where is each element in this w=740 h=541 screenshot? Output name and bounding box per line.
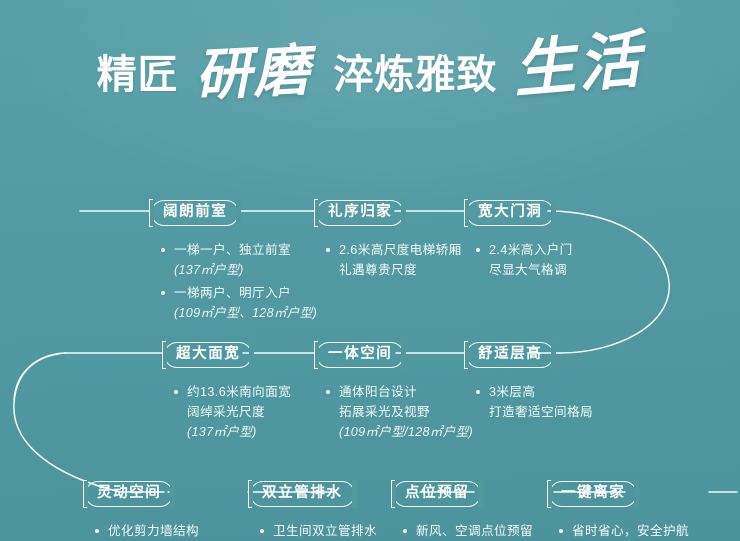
node-bullet-list: 通体阳台设计 拓展采光及视野 (109㎡户型/128㎡户型) [326, 382, 473, 442]
node-row2-2[interactable]: 舒适层高 3米层高 打造奢适空间格局 [466, 342, 593, 438]
list-item: 一梯两户、明厅入户 (109㎡户型、128㎡户型) [161, 283, 317, 323]
list-item: 新风、空调点位预留 便于后期装修 [403, 521, 533, 541]
node-bullet-list: 3米层高 打造奢适空间格局 [476, 382, 593, 422]
title-part-2: 研磨 [193, 42, 312, 104]
title-part-3: 淬炼雅致 [333, 55, 497, 95]
bullet-subtext: 阔绰采光尺度 [187, 402, 291, 422]
node-bullet-list: 一梯一户、独立前室 (137㎡户型) 一梯两户、明厅入户 (109㎡户型、128… [161, 240, 317, 323]
bracket-left-icon [391, 480, 395, 508]
node-bullet-list: 2.4米高入户门 尽显大气格调 [476, 240, 573, 280]
bracket-right-icon [402, 199, 406, 227]
node-bullet-list: 卫生间双立管排水 有效防止异味 [260, 521, 377, 541]
bracket-right-icon [552, 341, 556, 369]
list-item: 约13.6米南向面宽 阔绰采光尺度 (137㎡户型) [174, 382, 291, 442]
list-item: 2.6米高尺度电梯轿厢 礼遇尊贵尺度 [326, 240, 462, 280]
list-item: 2.4米高入户门 尽显大气格调 [476, 240, 573, 280]
bullet-subtext: 礼遇尊贵尺度 [339, 260, 462, 280]
node-label-box[interactable]: 一体空间 [316, 342, 404, 368]
node-label: 一体空间 [328, 346, 392, 362]
node-label-box[interactable]: 超大面宽 [164, 342, 252, 368]
node-label-box[interactable]: 宽大门洞 [466, 200, 554, 226]
bracket-right-icon [479, 480, 483, 508]
node-row3-1[interactable]: 双立管排水 卫生间双立管排水 有效防止异味 [250, 481, 377, 541]
node-bullet-list: 约13.6米南向面宽 阔绰采光尺度 (137㎡户型) [174, 382, 291, 442]
bullet-dot-icon [326, 248, 330, 252]
list-item: 优化剪力墙结构 实现空间多变 [95, 521, 199, 541]
bracket-left-icon [162, 341, 166, 369]
list-item: 卫生间双立管排水 有效防止异味 [260, 521, 377, 541]
bullet-text: 2.6米高尺度电梯轿厢 [339, 243, 462, 257]
node-label-box[interactable]: 阔朗前室 [151, 200, 239, 226]
node-label: 阔朗前室 [163, 204, 227, 220]
bullet-subtext: 打造奢适空间格局 [489, 402, 593, 422]
node-label-box[interactable]: 礼序归家 [316, 200, 404, 226]
node-label: 双立管排水 [262, 485, 343, 501]
bullet-dot-icon [326, 390, 330, 394]
bracket-left-icon [464, 199, 468, 227]
bracket-left-icon [149, 199, 153, 227]
bracket-left-icon [464, 341, 468, 369]
bracket-left-icon [547, 480, 551, 508]
node-row3-0[interactable]: 灵动空间 优化剪力墙结构 实现空间多变 [85, 481, 199, 541]
node-label: 灵动空间 [97, 485, 161, 501]
node-label: 点位预留 [405, 485, 469, 501]
bullet-text: 一梯两户、明厅入户 [174, 286, 291, 300]
bracket-right-icon [171, 480, 175, 508]
node-bullet-list: 优化剪力墙结构 实现空间多变 [95, 521, 199, 541]
bullet-text: 省时省心，安全护航 [572, 524, 689, 538]
bracket-right-icon [250, 341, 254, 369]
bullet-text: 优化剪力墙结构 [108, 524, 199, 538]
bracket-left-icon [314, 199, 318, 227]
node-row1-0[interactable]: 阔朗前室 一梯一户、独立前室 (137㎡户型) 一梯两户、明厅入户 (109㎡户… [151, 200, 317, 339]
bullet-text: 约13.6米南向面宽 [187, 385, 291, 399]
node-label: 一键离家 [561, 485, 625, 501]
bullet-dot-icon [476, 248, 480, 252]
bullet-dot-icon [174, 390, 178, 394]
bullet-dot-icon [260, 529, 264, 533]
bullet-dot-icon [95, 529, 99, 533]
bracket-left-icon [248, 480, 252, 508]
connector-r2-left-entry [14, 353, 164, 400]
poster-canvas: 精匠 研磨 淬炼雅致 生活 [0, 0, 740, 541]
node-label-box[interactable]: 一键离家 [549, 481, 637, 507]
node-bullet-list: 省时省心，安全护航 [559, 521, 689, 541]
bracket-right-icon [552, 199, 556, 227]
bullet-dot-icon [559, 529, 563, 533]
bullet-text: 新风、空调点位预留 [416, 524, 533, 538]
node-row2-1[interactable]: 一体空间 通体阳台设计 拓展采光及视野 (109㎡户型/128㎡户型) [316, 342, 473, 458]
bullet-text: 卫生间双立管排水 [273, 524, 377, 538]
bracket-left-icon [314, 341, 318, 369]
node-label: 超大面宽 [176, 346, 240, 362]
bullet-subtext-2: (109㎡户型/128㎡户型) [339, 422, 473, 442]
node-label-box[interactable]: 舒适层高 [466, 342, 554, 368]
node-label-box[interactable]: 点位预留 [393, 481, 481, 507]
bracket-right-icon [402, 341, 406, 369]
node-row3-3[interactable]: 一键离家 省时省心，安全护航 [549, 481, 689, 541]
node-label-box[interactable]: 双立管排水 [250, 481, 355, 507]
node-row3-2[interactable]: 点位预留 新风、空调点位预留 便于后期装修 [393, 481, 533, 541]
bullet-dot-icon [161, 291, 165, 295]
node-bullet-list: 新风、空调点位预留 便于后期装修 [403, 521, 533, 541]
bullet-subtext: (109㎡户型、128㎡户型) [174, 303, 317, 323]
bullet-text: 一梯一户、独立前室 [174, 243, 291, 257]
bracket-right-icon [635, 480, 639, 508]
node-label: 宽大门洞 [478, 204, 542, 220]
title-part-1: 精匠 [97, 55, 179, 95]
node-row1-2[interactable]: 宽大门洞 2.4米高入户门 尽显大气格调 [466, 200, 573, 296]
list-item: 通体阳台设计 拓展采光及视野 (109㎡户型/128㎡户型) [326, 382, 473, 442]
list-item: 3米层高 打造奢适空间格局 [476, 382, 593, 422]
title-part-4: 生活 [511, 28, 646, 101]
bullet-text: 通体阳台设计 [339, 385, 417, 399]
bullet-subtext: 拓展采光及视野 [339, 402, 473, 422]
bullet-dot-icon [161, 248, 165, 252]
bullet-text: 3米层高 [489, 385, 535, 399]
list-item: 省时省心，安全护航 [559, 521, 689, 541]
bullet-subtext: 尽显大气格调 [489, 260, 573, 280]
node-label: 礼序归家 [328, 204, 392, 220]
list-item: 一梯一户、独立前室 (137㎡户型) [161, 240, 317, 280]
bullet-subtext-2: (137㎡户型) [187, 422, 291, 442]
bullet-dot-icon [403, 529, 407, 533]
bullet-subtext: (137㎡户型) [174, 260, 317, 280]
node-row2-0[interactable]: 超大面宽 约13.6米南向面宽 阔绰采光尺度 (137㎡户型) [164, 342, 291, 458]
node-label: 舒适层高 [478, 346, 542, 362]
node-bullet-list: 2.6米高尺度电梯轿厢 礼遇尊贵尺度 [326, 240, 462, 280]
bullet-text: 2.4米高入户门 [489, 243, 573, 257]
connector-r2-to-r3-uturn [14, 353, 164, 492]
node-row1-1[interactable]: 礼序归家 2.6米高尺度电梯轿厢 礼遇尊贵尺度 [316, 200, 462, 296]
bracket-right-icon [237, 199, 241, 227]
bracket-left-icon [83, 480, 87, 508]
bracket-right-icon [353, 480, 357, 508]
bullet-dot-icon [476, 390, 480, 394]
page-title: 精匠 研磨 淬炼雅致 生活 [0, 36, 740, 136]
node-label-box[interactable]: 灵动空间 [85, 481, 173, 507]
